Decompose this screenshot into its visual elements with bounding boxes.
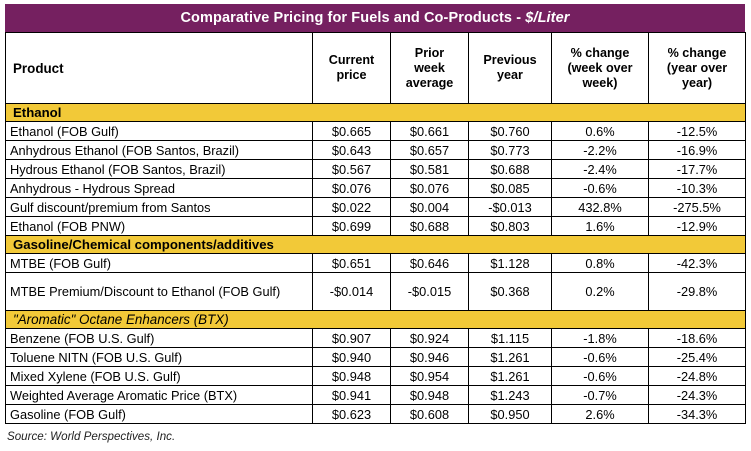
cell-previous-year: $1.261 xyxy=(469,348,552,367)
cell-current-price: $0.940 xyxy=(313,348,391,367)
column-header-prior-line3: average xyxy=(406,76,454,90)
cell-previous-year: $0.085 xyxy=(469,179,552,198)
cell-current-price: $0.907 xyxy=(313,329,391,348)
table-body: EthanolEthanol (FOB Gulf)$0.665$0.661$0.… xyxy=(6,104,746,424)
cell-prior-week-average: $0.004 xyxy=(391,198,469,217)
cell-pct-change-wow: -0.6% xyxy=(552,179,649,198)
cell-previous-year: $0.688 xyxy=(469,160,552,179)
cell-pct-change-yoy: -12.5% xyxy=(649,122,746,141)
cell-product: MTBE (FOB Gulf) xyxy=(6,254,313,273)
cell-prior-week-average: $0.581 xyxy=(391,160,469,179)
source-note: Source: World Perspectives, Inc. xyxy=(7,430,175,443)
cell-current-price: $0.699 xyxy=(313,217,391,236)
cell-pct-change-yoy: -24.3% xyxy=(649,386,746,405)
pricing-table: Product Current price Prior week average… xyxy=(5,32,746,424)
column-header-yoy-line1: % change xyxy=(668,46,727,60)
cell-pct-change-yoy: -25.4% xyxy=(649,348,746,367)
page-title-unit: $/Liter xyxy=(525,10,569,26)
cell-product: Anhydrous - Hydrous Spread xyxy=(6,179,313,198)
cell-previous-year: $0.950 xyxy=(469,405,552,424)
table-row: MTBE Premium/Discount to Ethanol (FOB Gu… xyxy=(6,273,746,311)
cell-prior-week-average: $0.608 xyxy=(391,405,469,424)
cell-pct-change-wow: 1.6% xyxy=(552,217,649,236)
cell-pct-change-yoy: -275.5% xyxy=(649,198,746,217)
cell-prior-week-average: $0.688 xyxy=(391,217,469,236)
column-header-wow-line3: week) xyxy=(582,76,617,90)
cell-prior-week-average: -$0.015 xyxy=(391,273,469,311)
cell-pct-change-wow: -2.4% xyxy=(552,160,649,179)
section-header-label: Ethanol xyxy=(6,104,746,122)
column-header-pct-change-year-over-year: % change (year over year) xyxy=(649,33,746,104)
cell-product: Ethanol (FOB PNW) xyxy=(6,217,313,236)
cell-current-price: $0.076 xyxy=(313,179,391,198)
table-title-bar: Comparative Pricing for Fuels and Co-Pro… xyxy=(5,4,745,32)
column-header-wow-line1: % change xyxy=(571,46,630,60)
column-header-prior-line1: Prior xyxy=(415,46,444,60)
table-row: Ethanol (FOB Gulf)$0.665$0.661$0.7600.6%… xyxy=(6,122,746,141)
column-header-current-price-line1: Current xyxy=(329,53,374,67)
cell-pct-change-wow: -1.8% xyxy=(552,329,649,348)
page-title: Comparative Pricing for Fuels and Co-Pro… xyxy=(180,10,569,26)
table-row: Benzene (FOB U.S. Gulf)$0.907$0.924$1.11… xyxy=(6,329,746,348)
cell-pct-change-wow: 0.2% xyxy=(552,273,649,311)
table-row: Anhydrous Ethanol (FOB Santos, Brazil)$0… xyxy=(6,141,746,160)
pricing-table-page: Comparative Pricing for Fuels and Co-Pro… xyxy=(0,0,751,451)
column-header-wow-line2: (week over xyxy=(567,61,632,75)
cell-current-price: $0.643 xyxy=(313,141,391,160)
page-title-main: Comparative Pricing for Fuels and Co-Pro… xyxy=(180,10,525,26)
table-row: Toluene NITN (FOB U.S. Gulf)$0.940$0.946… xyxy=(6,348,746,367)
cell-current-price: $0.623 xyxy=(313,405,391,424)
cell-pct-change-wow: -2.2% xyxy=(552,141,649,160)
table-row: Gulf discount/premium from Santos$0.022$… xyxy=(6,198,746,217)
cell-product: MTBE Premium/Discount to Ethanol (FOB Gu… xyxy=(6,273,313,311)
cell-current-price: $0.567 xyxy=(313,160,391,179)
cell-pct-change-yoy: -34.3% xyxy=(649,405,746,424)
cell-current-price: $0.651 xyxy=(313,254,391,273)
cell-pct-change-yoy: -10.3% xyxy=(649,179,746,198)
cell-pct-change-wow: 0.8% xyxy=(552,254,649,273)
cell-product: Gasoline (FOB Gulf) xyxy=(6,405,313,424)
cell-pct-change-wow: -0.7% xyxy=(552,386,649,405)
cell-prior-week-average: $0.076 xyxy=(391,179,469,198)
column-header-yoy-line3: year) xyxy=(682,76,712,90)
cell-prior-week-average: $0.948 xyxy=(391,386,469,405)
table-header: Product Current price Prior week average… xyxy=(6,33,746,104)
cell-current-price: -$0.014 xyxy=(313,273,391,311)
cell-product: Gulf discount/premium from Santos xyxy=(6,198,313,217)
table-header-row: Product Current price Prior week average… xyxy=(6,33,746,104)
column-header-pct-change-week-over-week: % change (week over week) xyxy=(552,33,649,104)
cell-current-price: $0.022 xyxy=(313,198,391,217)
cell-prior-week-average: $0.661 xyxy=(391,122,469,141)
cell-product: Anhydrous Ethanol (FOB Santos, Brazil) xyxy=(6,141,313,160)
column-header-product: Product xyxy=(6,33,313,104)
column-header-previous-line2: year xyxy=(497,68,523,82)
cell-pct-change-wow: 2.6% xyxy=(552,405,649,424)
section-header-label: Gasoline/Chemical components/additives xyxy=(6,236,746,254)
cell-prior-week-average: $0.657 xyxy=(391,141,469,160)
pricing-table-wrapper: Product Current price Prior week average… xyxy=(5,32,745,424)
cell-current-price: $0.665 xyxy=(313,122,391,141)
table-row: Anhydrous - Hydrous Spread$0.076$0.076$0… xyxy=(6,179,746,198)
cell-prior-week-average: $0.946 xyxy=(391,348,469,367)
cell-product: Mixed Xylene (FOB U.S. Gulf) xyxy=(6,367,313,386)
cell-pct-change-yoy: -17.7% xyxy=(649,160,746,179)
cell-current-price: $0.941 xyxy=(313,386,391,405)
table-row: Hydrous Ethanol (FOB Santos, Brazil)$0.5… xyxy=(6,160,746,179)
column-header-yoy-line2: (year over xyxy=(667,61,727,75)
table-row: Gasoline (FOB Gulf)$0.623$0.608$0.9502.6… xyxy=(6,405,746,424)
cell-previous-year: $0.803 xyxy=(469,217,552,236)
cell-pct-change-yoy: -18.6% xyxy=(649,329,746,348)
table-row: Weighted Average Aromatic Price (BTX)$0.… xyxy=(6,386,746,405)
section-header-label: "Aromatic" Octane Enhancers (BTX) xyxy=(6,311,746,329)
cell-pct-change-wow: 0.6% xyxy=(552,122,649,141)
cell-previous-year: -$0.013 xyxy=(469,198,552,217)
cell-previous-year: $1.128 xyxy=(469,254,552,273)
cell-pct-change-wow: -0.6% xyxy=(552,348,649,367)
column-header-current-price-line2: price xyxy=(336,68,366,82)
column-header-prior-week-average: Prior week average xyxy=(391,33,469,104)
cell-previous-year: $1.115 xyxy=(469,329,552,348)
cell-pct-change-yoy: -16.9% xyxy=(649,141,746,160)
cell-pct-change-yoy: -12.9% xyxy=(649,217,746,236)
column-header-current-price: Current price xyxy=(313,33,391,104)
cell-product: Ethanol (FOB Gulf) xyxy=(6,122,313,141)
section-header-row: Gasoline/Chemical components/additives xyxy=(6,236,746,254)
section-header-row: "Aromatic" Octane Enhancers (BTX) xyxy=(6,311,746,329)
column-header-previous-line1: Previous xyxy=(483,53,536,67)
column-header-previous-year: Previous year xyxy=(469,33,552,104)
cell-prior-week-average: $0.924 xyxy=(391,329,469,348)
section-header-row: Ethanol xyxy=(6,104,746,122)
cell-product: Weighted Average Aromatic Price (BTX) xyxy=(6,386,313,405)
cell-product: Hydrous Ethanol (FOB Santos, Brazil) xyxy=(6,160,313,179)
cell-previous-year: $0.760 xyxy=(469,122,552,141)
cell-prior-week-average: $0.646 xyxy=(391,254,469,273)
cell-pct-change-wow: -0.6% xyxy=(552,367,649,386)
table-row: Ethanol (FOB PNW)$0.699$0.688$0.8031.6%-… xyxy=(6,217,746,236)
cell-previous-year: $1.261 xyxy=(469,367,552,386)
table-row: Mixed Xylene (FOB U.S. Gulf)$0.948$0.954… xyxy=(6,367,746,386)
cell-pct-change-yoy: -29.8% xyxy=(649,273,746,311)
cell-product: Benzene (FOB U.S. Gulf) xyxy=(6,329,313,348)
cell-pct-change-yoy: -42.3% xyxy=(649,254,746,273)
cell-previous-year: $1.243 xyxy=(469,386,552,405)
table-row: MTBE (FOB Gulf)$0.651$0.646$1.1280.8%-42… xyxy=(6,254,746,273)
cell-prior-week-average: $0.954 xyxy=(391,367,469,386)
cell-current-price: $0.948 xyxy=(313,367,391,386)
cell-previous-year: $0.368 xyxy=(469,273,552,311)
cell-pct-change-yoy: -24.8% xyxy=(649,367,746,386)
cell-pct-change-wow: 432.8% xyxy=(552,198,649,217)
cell-product: Toluene NITN (FOB U.S. Gulf) xyxy=(6,348,313,367)
cell-previous-year: $0.773 xyxy=(469,141,552,160)
column-header-prior-line2: week xyxy=(414,61,445,75)
